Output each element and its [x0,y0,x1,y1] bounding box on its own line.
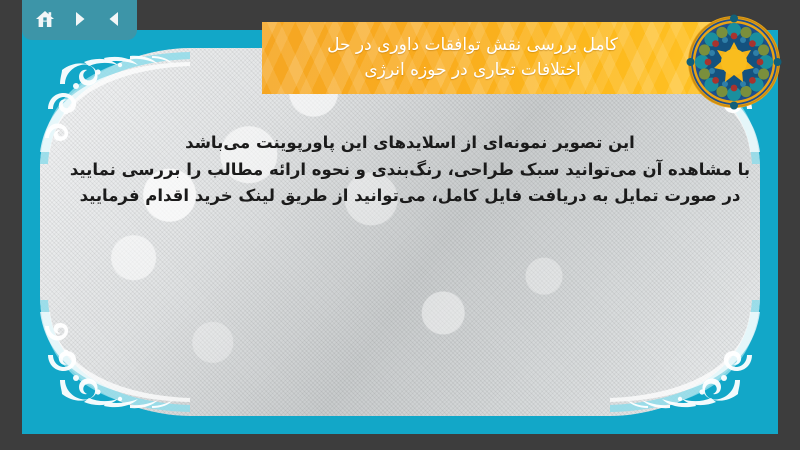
persian-rosette-ornament-icon [686,14,782,110]
body-line-1: این تصویر نمونه‌ای از اسلایدهای این پاور… [60,130,760,157]
slide-canvas [40,48,760,416]
body-line-3: در صورت تمایل به دریافت فایل کامل، می‌تو… [60,183,760,210]
slide-navigation-bar [22,0,137,40]
banner-body: کامل بررسی نقش توافقات داوری در حل اختلا… [262,22,739,94]
corner-ornament-bottom-right [610,296,760,416]
corner-ornament-bottom-left [40,296,190,416]
triangle-right-icon [70,9,90,29]
slide-body-text: این تصویر نمونه‌ای از اسلایدهای این پاور… [60,130,760,210]
slide-viewer: کامل بررسی نقش توافقات داوری در حل اختلا… [0,0,800,450]
triangle-left-icon [104,9,124,29]
next-slide-button[interactable] [67,6,93,32]
home-icon [34,8,56,30]
home-button[interactable] [32,6,58,32]
title-banner: کامل بررسی نقش توافقات داوری در حل اختلا… [262,22,748,94]
body-line-2: با مشاهده آن می‌توانید سبک طراحی، رنگ‌بن… [60,157,760,184]
previous-slide-button[interactable] [101,6,127,32]
page-title: کامل بررسی نقش توافقات داوری در حل اختلا… [327,33,618,82]
